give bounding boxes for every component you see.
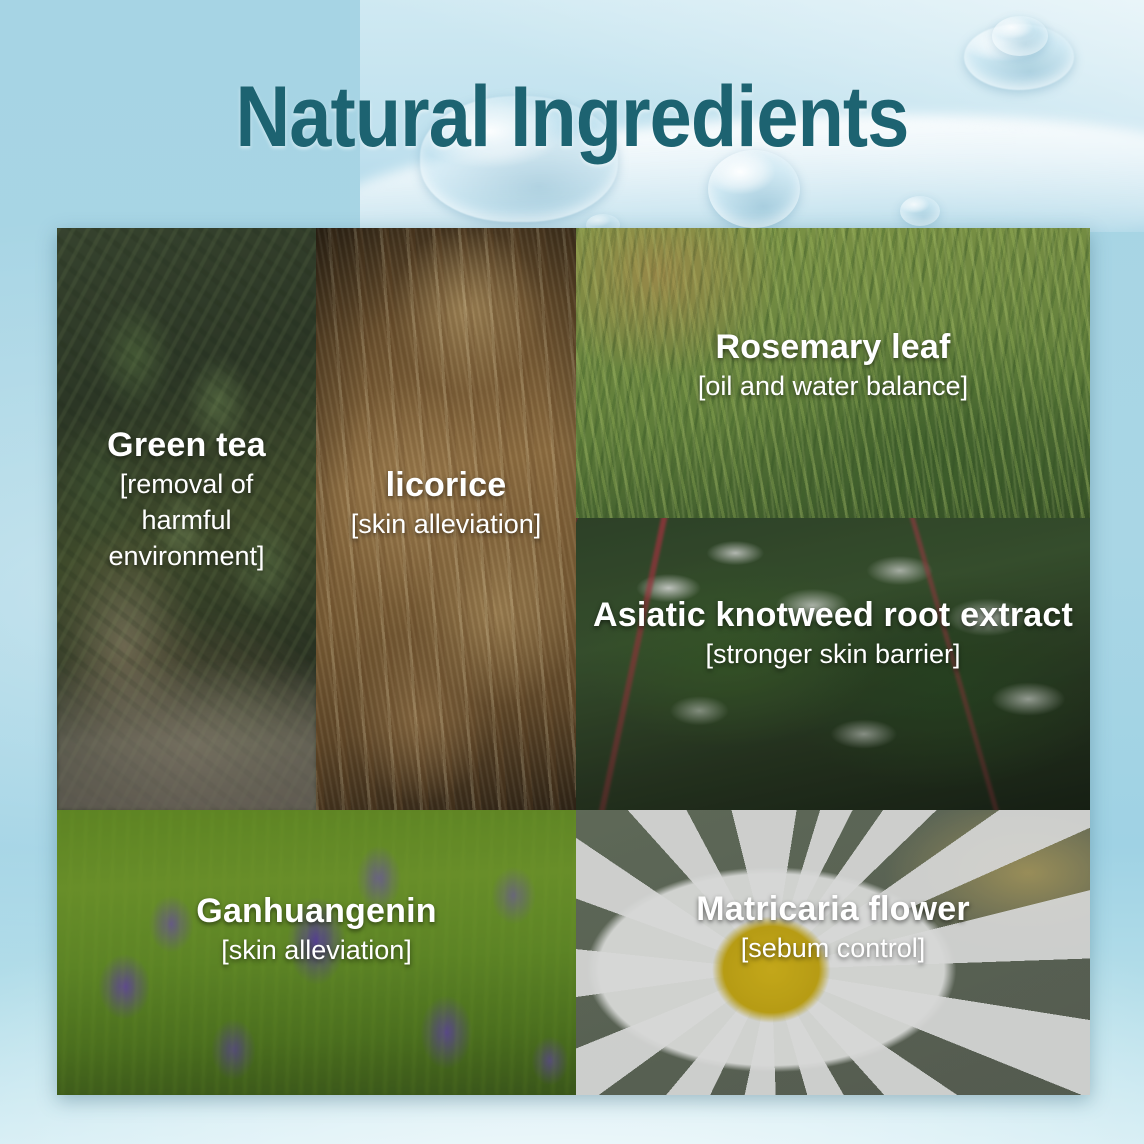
green-tea-caption: Green tea [removal of harmful environmen… bbox=[57, 424, 316, 574]
ingredient-name: Ganhuangenin bbox=[71, 890, 562, 932]
licorice-caption: licorice [skin alleviation] bbox=[316, 464, 576, 542]
knotweed-caption: Asiatic knotweed root extract [stronger … bbox=[576, 594, 1090, 672]
ingredient-card-matricaria-flower[interactable]: Matricaria flower [sebum control] bbox=[576, 810, 1090, 1095]
ingredient-card-rosemary-leaf[interactable]: Rosemary leaf [oil and water balance] bbox=[576, 228, 1090, 518]
ganhuangenin-caption: Ganhuangenin [skin alleviation] bbox=[57, 890, 576, 968]
ingredient-name: licorice bbox=[330, 464, 562, 506]
ingredients-poster: Natural Ingredients Green tea [removal o… bbox=[0, 0, 1144, 1144]
page-title: Natural Ingredients bbox=[69, 74, 1076, 160]
ingredient-card-licorice[interactable]: licorice [skin alleviation] bbox=[316, 228, 576, 810]
ingredient-card-asiatic-knotweed[interactable]: Asiatic knotweed root extract [stronger … bbox=[576, 518, 1090, 810]
ingredient-effect: [stronger skin barrier] bbox=[590, 636, 1076, 672]
ingredient-name: Green tea bbox=[71, 424, 302, 466]
ingredient-effect: [skin alleviation] bbox=[330, 506, 562, 542]
ingredient-effect: [oil and water balance] bbox=[590, 368, 1076, 404]
ingredient-name: Asiatic knotweed root extract bbox=[590, 594, 1076, 636]
ingredient-effect: [sebum control] bbox=[590, 930, 1076, 966]
water-droplet-small bbox=[900, 196, 940, 226]
ingredient-name: Rosemary leaf bbox=[590, 326, 1076, 368]
water-droplet-upper-small bbox=[992, 16, 1048, 56]
ingredient-effect: [removal of harmful environment] bbox=[71, 466, 302, 574]
ingredient-card-ganhuangenin[interactable]: Ganhuangenin [skin alleviation] bbox=[57, 810, 576, 1095]
ingredient-card-green-tea[interactable]: Green tea [removal of harmful environmen… bbox=[57, 228, 316, 810]
ingredient-grid: Green tea [removal of harmful environmen… bbox=[57, 228, 1090, 1095]
matricaria-caption: Matricaria flower [sebum control] bbox=[576, 888, 1090, 966]
ingredient-effect: [skin alleviation] bbox=[71, 932, 562, 968]
rosemary-caption: Rosemary leaf [oil and water balance] bbox=[576, 326, 1090, 404]
ingredient-name: Matricaria flower bbox=[590, 888, 1076, 930]
